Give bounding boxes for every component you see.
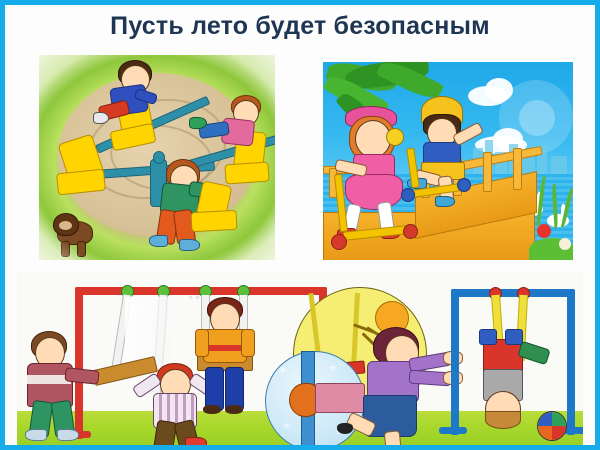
flower: [537, 224, 551, 238]
child-shoe: [179, 239, 200, 251]
illustration-boardwalk-scooters: [323, 62, 573, 260]
seesaw-seat-push: [191, 210, 238, 232]
dog-leg: [61, 241, 70, 257]
snowflake-icon: ✳: [279, 365, 287, 373]
shirt-stripe: [203, 345, 245, 351]
boy-shoe: [25, 429, 47, 441]
sleeve: [315, 383, 365, 413]
poster-root: Пусть лето будет безопасным: [0, 0, 600, 450]
blue-frame-left-post: [451, 289, 459, 435]
child-shoe: [189, 117, 207, 129]
snowflake-icon: ✳: [283, 421, 291, 429]
illustration-swing-strip: …: [17, 271, 583, 445]
scooter-wheel: [457, 178, 471, 192]
blue-frame-top-bar: [451, 289, 575, 297]
child-hair: [485, 411, 521, 429]
page-title: Пусть лето будет безопасным: [5, 10, 595, 42]
beach-ball: [537, 411, 567, 441]
scooter-wheel: [401, 188, 415, 202]
red-frame-left-post: [75, 287, 83, 439]
seesaw-pivot-cap: [153, 151, 165, 164]
boy-shoe: [435, 196, 455, 207]
dog-leg: [77, 241, 86, 257]
woman-leg: [384, 430, 403, 445]
boy-shoe: [225, 405, 243, 414]
skyline-building: [551, 156, 567, 176]
boy-shoe: [57, 429, 79, 441]
railing-post: [483, 152, 492, 192]
boy-arm: [195, 329, 209, 357]
child-shoe: [93, 112, 109, 124]
child-hand: [479, 329, 497, 345]
flower-accessory: [386, 128, 404, 146]
illustration-seesaw-playground: [39, 55, 275, 260]
boy-shoe: [185, 437, 207, 445]
boy-shoe: [203, 405, 221, 414]
child-hand: [505, 329, 523, 345]
seesaw-seat-right: [224, 161, 269, 184]
dog-muzzle: [59, 221, 72, 230]
woman-shoe: [337, 423, 353, 434]
blue-frame-foot: [439, 427, 467, 434]
sun-glow-inner: [519, 100, 555, 136]
cloud: [493, 128, 523, 150]
blue-frame-right-post: [567, 289, 575, 435]
child-shoe: [149, 235, 168, 247]
poster-canvas: Пусть лето будет безопасным: [5, 5, 595, 445]
scooter-wheel: [331, 234, 347, 250]
flower: [559, 238, 571, 250]
railing-post: [513, 148, 522, 190]
snowflake-icon: ✳: [329, 363, 337, 371]
cloud: [485, 78, 513, 102]
boy-arm: [241, 329, 255, 357]
boy-leg: [153, 420, 178, 445]
scooter-wheel: [403, 224, 418, 239]
